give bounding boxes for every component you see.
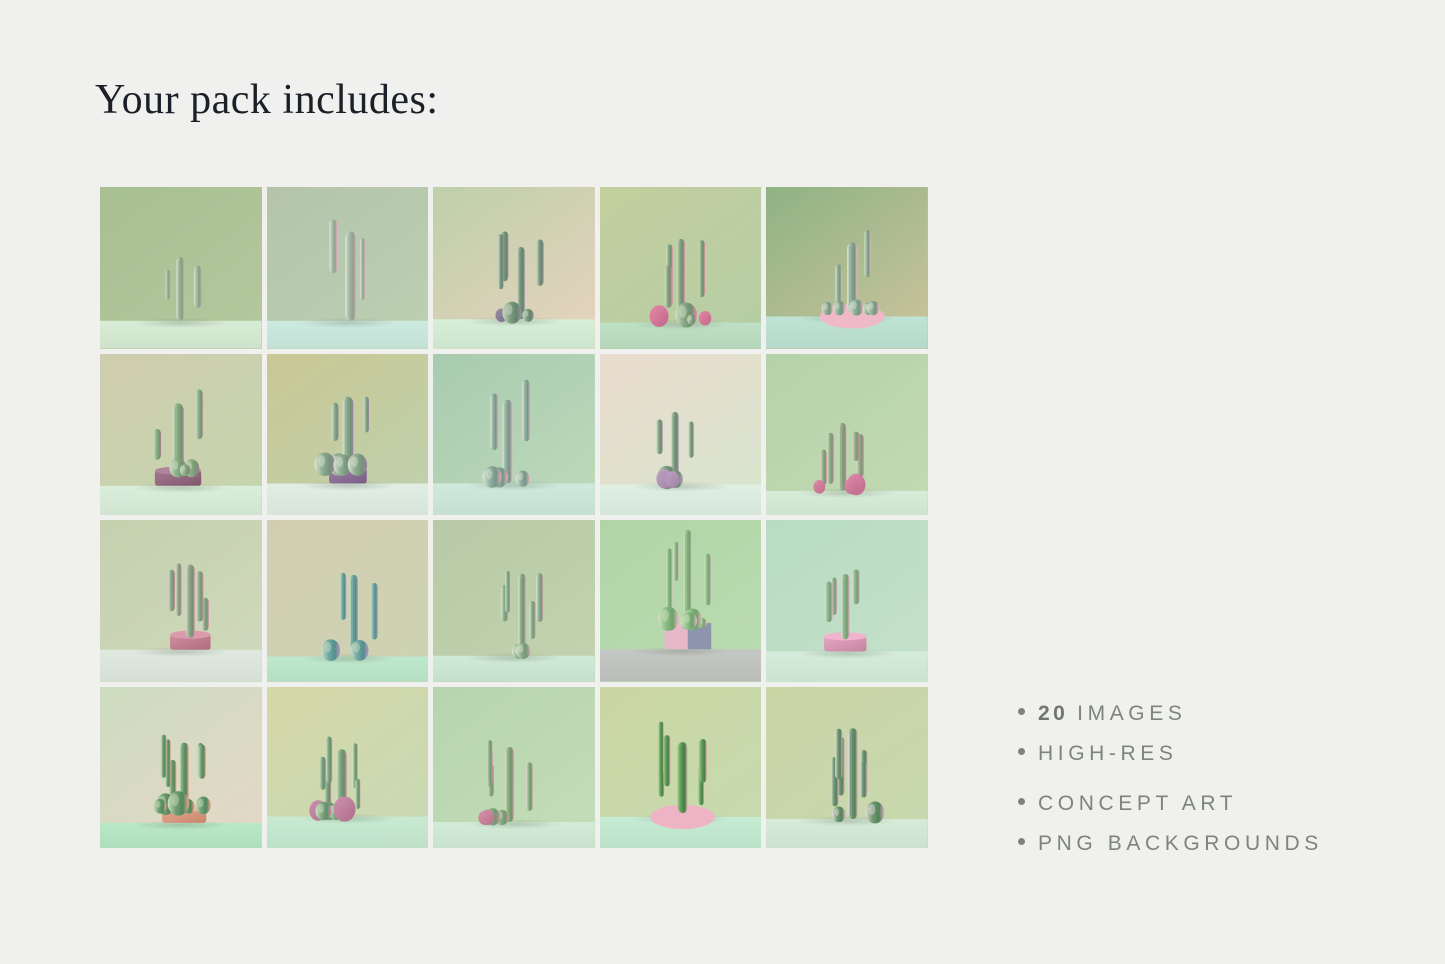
gallery-thumbnail[interactable]: [600, 687, 762, 849]
gallery-thumbnail[interactable]: [600, 187, 762, 349]
gallery-thumbnail[interactable]: [433, 354, 595, 516]
gallery-grid: [100, 187, 928, 848]
gallery-thumbnail[interactable]: [433, 187, 595, 349]
gallery-thumbnail[interactable]: [766, 187, 928, 349]
feature-item: 20IMAGES: [1018, 694, 1418, 734]
feature-item: HIGH-RES: [1018, 734, 1418, 774]
gallery-thumbnail[interactable]: [766, 687, 928, 849]
feature-label: HIGH-RES: [1038, 734, 1177, 774]
bullet-icon: [1018, 798, 1025, 805]
gallery-thumbnail[interactable]: [766, 354, 928, 516]
gallery-thumbnail[interactable]: [267, 687, 429, 849]
gallery-thumbnail[interactable]: [267, 520, 429, 682]
feature-item: CONCEPT ART: [1018, 784, 1418, 824]
bullet-icon: [1018, 748, 1025, 755]
gallery-thumbnail[interactable]: [100, 520, 262, 682]
feature-label: CONCEPT ART: [1038, 784, 1237, 824]
feature-item: PNG BACKGROUNDS: [1018, 824, 1418, 864]
gallery-thumbnail[interactable]: [433, 687, 595, 849]
feature-count: 20: [1038, 702, 1068, 726]
page-title: Your pack includes:: [95, 74, 439, 126]
gallery-thumbnail[interactable]: [766, 520, 928, 682]
gallery-thumbnail[interactable]: [433, 520, 595, 682]
bullet-icon: [1018, 708, 1025, 715]
gallery-thumbnail[interactable]: [100, 687, 262, 849]
gallery-thumbnail[interactable]: [100, 354, 262, 516]
gallery-thumbnail[interactable]: [600, 354, 762, 516]
gallery-thumbnail[interactable]: [100, 187, 262, 349]
feature-list: 20IMAGESHIGH-RESCONCEPT ARTPNG BACKGROUN…: [1018, 694, 1418, 864]
feature-label: PNG BACKGROUNDS: [1038, 824, 1323, 864]
gallery-thumbnail[interactable]: [600, 520, 762, 682]
bullet-icon: [1018, 838, 1025, 845]
gallery-thumbnail[interactable]: [267, 354, 429, 516]
gallery-thumbnail[interactable]: [267, 187, 429, 349]
feature-label: IMAGES: [1077, 694, 1186, 734]
